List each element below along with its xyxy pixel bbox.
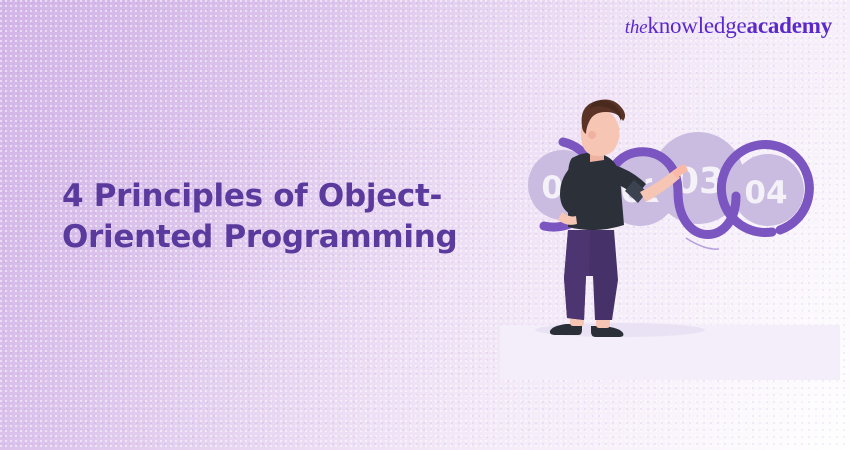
page-title: 4 Principles of Object-Oriented Programm… [62,176,482,258]
brand-logo[interactable]: theknowledgeacademy [625,14,832,37]
logo-word-knowledge: knowledge [647,13,746,38]
banner: theknowledgeacademy 4 Principles of Obje… [0,0,850,450]
logo-word-academy: academy [747,13,832,38]
step-label-04: 04 [744,175,787,211]
logo-word-the: the [625,17,648,38]
person-figure [550,99,688,337]
hero-illustration: 01 02 03 04 [500,80,840,380]
